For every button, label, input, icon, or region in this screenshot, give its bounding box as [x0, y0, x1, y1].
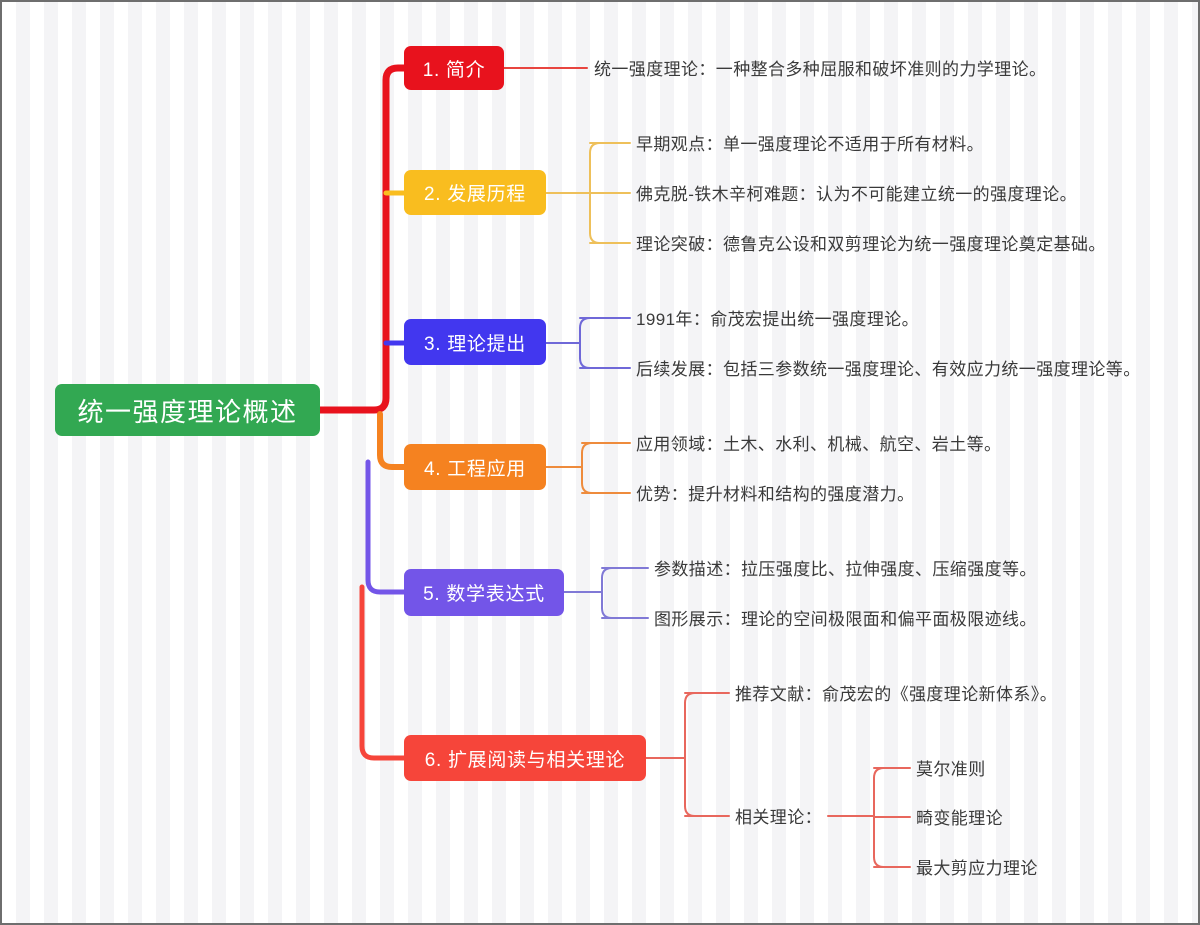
trunk-red [320, 68, 404, 410]
branch-node-reading[interactable]: 6. 扩展阅读与相关理论 [404, 735, 646, 781]
root-node[interactable]: 统一强度理论概述 [55, 384, 320, 436]
leaf-bracket-math [564, 568, 648, 618]
leaf-application-0: 应用领域：土木、水利、机械、航空、岩土等。 [636, 436, 1001, 453]
deep-bracket [828, 768, 910, 867]
branch-node-reading-label: 6. 扩展阅读与相关理论 [425, 745, 626, 772]
leaf-bracket-reading [646, 693, 729, 816]
leaf-reading-0: 推荐文献：俞茂宏的《强度理论新体系》。 [735, 686, 1057, 703]
branch-node-application-label: 4. 工程应用 [424, 454, 526, 481]
branch-node-intro[interactable]: 1. 简介 [404, 46, 504, 90]
branch-node-history-label: 2. 发展历程 [424, 179, 526, 206]
branch-node-intro-label: 1. 简介 [423, 55, 486, 82]
leaf-history-1: 佛克脱-铁木辛柯难题：认为不可能建立统一的强度理论。 [636, 186, 1077, 203]
branch-node-history[interactable]: 2. 发展历程 [404, 170, 546, 215]
branch-node-proposal[interactable]: 3. 理论提出 [404, 319, 546, 365]
deep-leaf-2: 最大剪应力理论 [916, 860, 1038, 877]
branch-node-math[interactable]: 5. 数学表达式 [404, 569, 564, 616]
connector-layer [2, 2, 1200, 925]
deep-leaf-0: 莫尔准则 [916, 761, 986, 778]
leaf-math-1: 图形展示：理论的空间极限面和偏平面极限迹线。 [654, 611, 1037, 628]
branch-node-proposal-label: 3. 理论提出 [424, 329, 526, 356]
trunk-orange [380, 414, 404, 467]
trunk-purple [368, 462, 404, 592]
mindmap-canvas: 统一强度理论概述 1. 简介 2. 发展历程 3. 理论提出 4. 工程应用 5… [0, 0, 1200, 925]
root-node-label: 统一强度理论概述 [77, 392, 297, 429]
leaf-application-1: 优势：提升材料和结构的强度潜力。 [636, 486, 914, 503]
branch-node-math-label: 5. 数学表达式 [423, 579, 545, 606]
leaf-bracket-application [546, 443, 630, 493]
branch-node-application[interactable]: 4. 工程应用 [404, 444, 546, 490]
leaf-bracket-history [546, 143, 630, 243]
leaf-reading-1: 相关理论： [735, 809, 822, 826]
trunk-tomato [362, 587, 404, 758]
leaf-intro-0: 统一强度理论：一种整合多种屈服和破坏准则的力学理论。 [594, 61, 1046, 78]
leaf-proposal-1: 后续发展：包括三参数统一强度理论、有效应力统一强度理论等。 [636, 361, 1141, 378]
deep-leaf-1: 畸变能理论 [916, 810, 1003, 827]
leaf-math-0: 参数描述：拉压强度比、拉伸强度、压缩强度等。 [654, 561, 1037, 578]
leaf-history-2: 理论突破：德鲁克公设和双剪理论为统一强度理论奠定基础。 [636, 236, 1106, 253]
leaf-proposal-0: 1991年：俞茂宏提出统一强度理论。 [636, 311, 919, 328]
leaf-history-0: 早期观点：单一强度理论不适用于所有材料。 [636, 136, 984, 153]
leaf-bracket-proposal [546, 318, 630, 368]
